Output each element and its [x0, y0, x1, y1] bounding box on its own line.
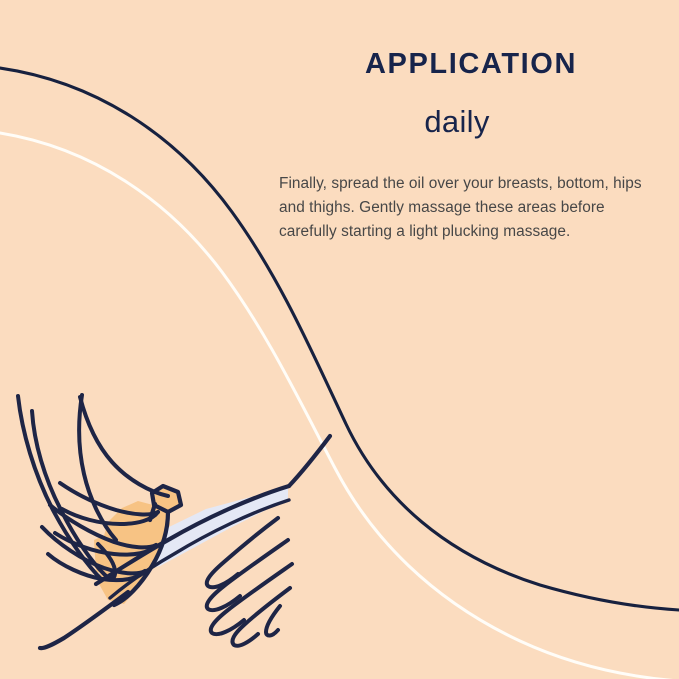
body-contour-diagonal — [40, 592, 128, 648]
oil-bottle-cap — [152, 486, 181, 512]
right-hand-finger-5 — [266, 606, 280, 636]
hands-applying-oil-illustration — [0, 0, 679, 679]
page-title: APPLICATION — [271, 49, 671, 81]
body-copy: Finally, spread the oil over your breast… — [279, 172, 651, 245]
body-contour-torso-right — [289, 436, 330, 486]
page-subtitle: daily — [271, 104, 643, 140]
right-hand-finger-3 — [211, 564, 292, 634]
body-copy-paragraph: Finally, spread the oil over your breast… — [279, 172, 651, 245]
poster-canvas: APPLICATION daily Finally, spread the oi… — [0, 0, 679, 679]
left-hand-wrist-upper — [80, 397, 168, 496]
